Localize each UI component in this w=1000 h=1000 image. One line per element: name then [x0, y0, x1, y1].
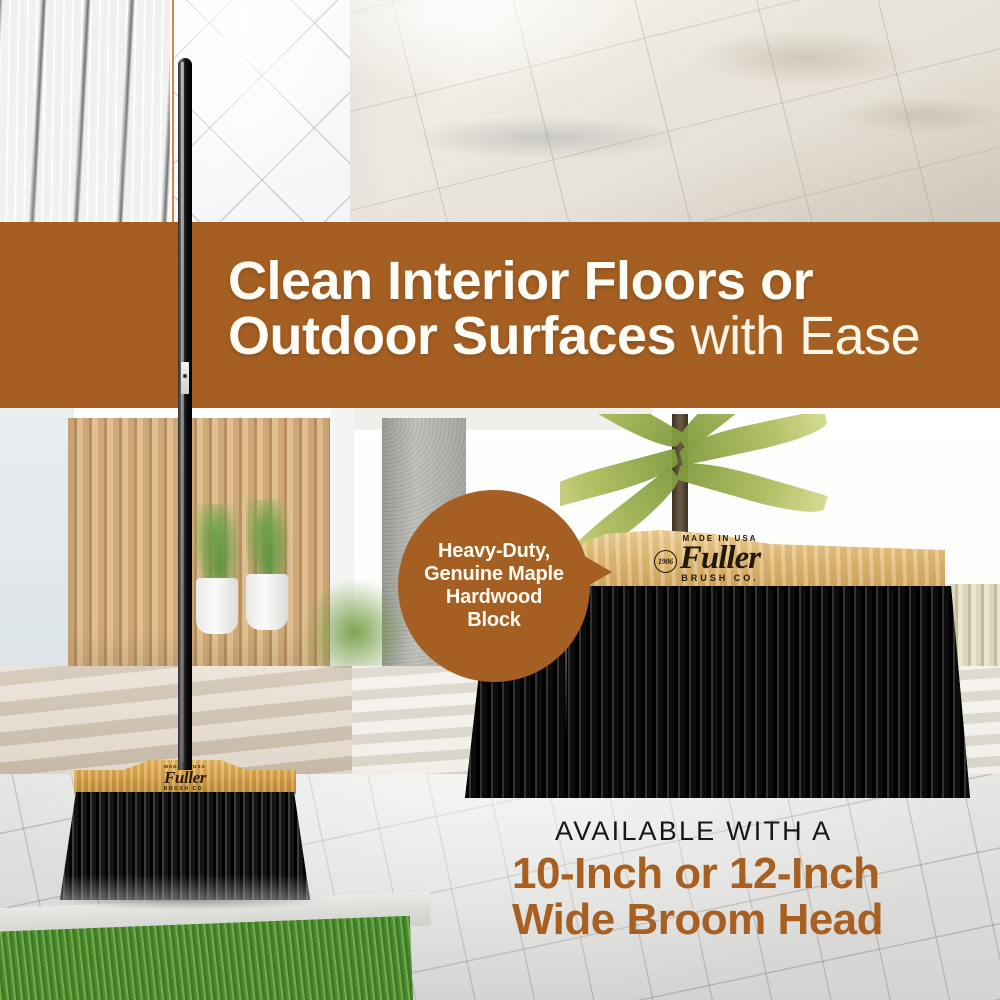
broom-head-full-view: MADE IN USA Fuller BRUSH CO.	[60, 760, 310, 900]
headline-line-2-thin: with Ease	[676, 306, 920, 366]
product-marketing-image: Clean Interior Floors or Outdoor Surface…	[0, 0, 1000, 1000]
marble-floor-panel	[350, 0, 1000, 222]
size-promo-line-2: Wide Broom Head	[512, 898, 982, 942]
floor-surface-strip	[0, 0, 1000, 222]
callout-line-3: Hardwood	[424, 586, 564, 609]
headline-line-2: Outdoor Surfaces with Ease	[0, 309, 1000, 363]
brush-co-text: BRUSH CO.	[164, 786, 206, 792]
potted-plant	[196, 504, 242, 580]
hardwood-floor-panel	[0, 0, 170, 222]
headline-line-2-bold: Outdoor Surfaces	[228, 306, 676, 366]
broom-handle-hang-hole	[181, 362, 189, 394]
callout-bubble: Heavy-Duty, Genuine Maple Hardwood Block	[398, 490, 590, 682]
fuller-wordmark: 1906 Fuller	[680, 543, 760, 574]
callout-text: Heavy-Duty, Genuine Maple Hardwood Block	[424, 540, 564, 633]
broom-bristles	[60, 792, 310, 900]
garden-bush	[300, 578, 410, 668]
tile-floor-panel	[172, 0, 352, 222]
size-promo-eyebrow: AVAILABLE WITH A	[555, 818, 975, 845]
white-planter	[196, 578, 238, 634]
broom-handle-highlight	[181, 62, 184, 762]
callout-line-1: Heavy-Duty,	[424, 540, 564, 563]
callout-line-2: Genuine Maple	[424, 563, 564, 586]
potted-plant	[246, 500, 292, 576]
broom-logo-large: MADE IN USA 1906 Fuller BRUSH CO.	[605, 532, 835, 590]
size-promo-line-1: 10-Inch or 12-Inch	[512, 852, 982, 896]
established-seal: 1906	[654, 550, 677, 573]
fuller-wordmark: Fuller	[164, 769, 206, 786]
headline-line-1: Clean Interior Floors or	[0, 254, 1000, 308]
interior-wall	[0, 408, 74, 670]
white-planter	[246, 574, 288, 630]
callout-line-4: Block	[424, 609, 564, 632]
fuller-wordmark-text: Fuller	[680, 540, 760, 576]
grass-lawn	[0, 916, 413, 1000]
